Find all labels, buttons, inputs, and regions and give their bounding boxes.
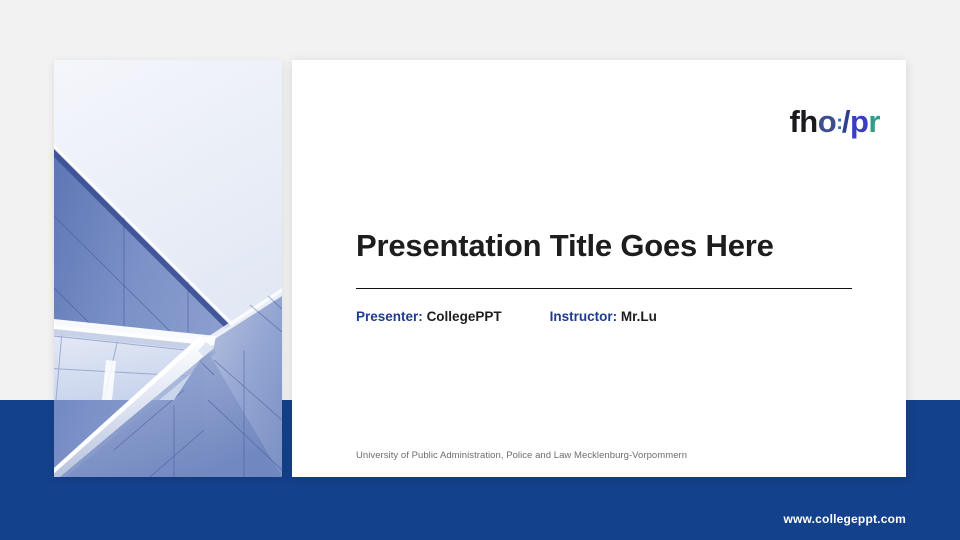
- architecture-photo: [54, 60, 282, 477]
- logo-part-slash: /: [842, 104, 850, 139]
- instructor-value: Mr.Lu: [621, 309, 657, 324]
- presenter-value: CollegePPT: [427, 309, 502, 324]
- presenter-group: Presenter: CollegePPT: [356, 309, 502, 325]
- fhoevpr-logo: fho:/pr: [789, 106, 880, 137]
- instructor-group: Instructor: Mr.Lu: [550, 309, 657, 325]
- logo-part-fh: fh: [789, 104, 817, 139]
- presenter-instructor-row: Presenter: CollegePPTInstructor: Mr.Lu: [356, 309, 876, 325]
- presentation-title: Presentation Title Goes Here: [356, 229, 876, 263]
- title-divider: [356, 288, 852, 289]
- logo-part-p: p: [850, 104, 868, 139]
- presenter-label: Presenter:: [356, 309, 423, 324]
- slide-content-card: fho:/pr Presentation Title Goes Here Pre…: [292, 60, 906, 477]
- logo-part-dot: :: [836, 112, 842, 134]
- organization-footer: University of Public Administration, Pol…: [356, 450, 876, 461]
- presentation-slide: www.collegeppt.com fho:/pr Presentation …: [0, 0, 960, 540]
- website-url: www.collegeppt.com: [783, 512, 906, 526]
- architecture-photo-graphic: [54, 60, 282, 477]
- instructor-label: Instructor:: [550, 309, 618, 324]
- logo-part-o: o: [818, 104, 836, 139]
- logo-part-r: r: [868, 104, 880, 139]
